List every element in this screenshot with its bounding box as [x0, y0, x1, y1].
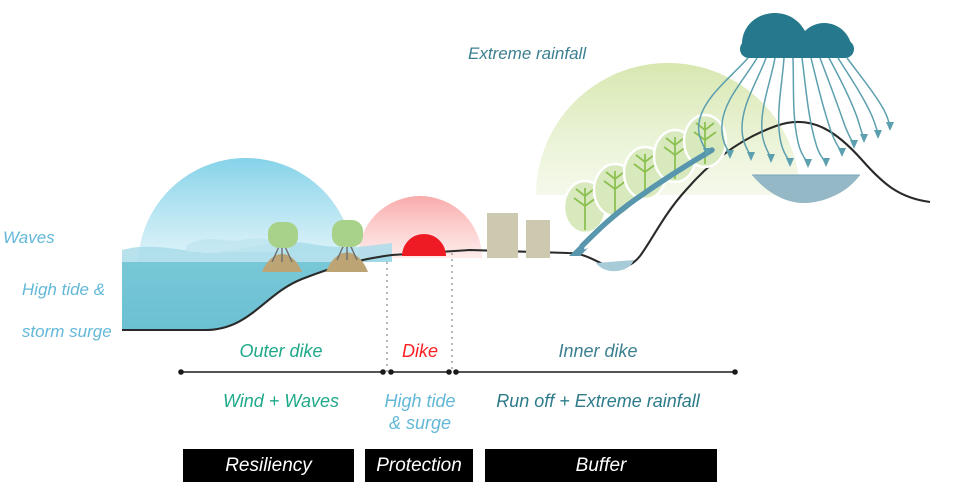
diagram-canvas: Waves High tide & storm surge Extreme ra… — [0, 0, 960, 489]
hazard-label-dike-line-2: & surge — [389, 413, 451, 433]
high-tide-line-2: storm surge — [22, 322, 112, 341]
strategy-bar-buffer-label: Buffer — [576, 455, 627, 477]
building-icon — [487, 213, 518, 258]
hazard-label-inner-dike: Run off + Extreme rainfall — [460, 390, 736, 412]
strategy-bar-resiliency-label: Resiliency — [225, 455, 312, 477]
hazard-label-dike-line-1: High tide — [384, 391, 455, 411]
hazard-label-outer-dike: Wind + Waves — [180, 390, 382, 412]
sea-water — [122, 238, 392, 330]
zone-label-outer-dike: Outer dike — [180, 341, 382, 362]
strategy-bar-resiliency: Resiliency — [183, 449, 354, 482]
valley-pond-water — [596, 260, 634, 271]
strategy-bar-protection-label: Protection — [376, 455, 462, 477]
scene-illustration — [0, 0, 960, 489]
strategy-bar-protection: Protection — [365, 449, 473, 482]
zone-label-inner-dike: Inner dike — [460, 341, 736, 362]
high-tide-storm-surge-label: High tide & storm surge — [3, 258, 112, 363]
waves-label: Waves — [3, 228, 55, 248]
retention-basin-water — [752, 175, 860, 203]
zone-label-dike: Dike — [388, 341, 452, 362]
extreme-rainfall-label: Extreme rainfall — [468, 44, 586, 64]
building-icon — [526, 220, 550, 258]
high-tide-line-1: High tide & — [22, 280, 105, 299]
hazard-label-dike: High tide & surge — [380, 390, 460, 434]
strategy-bar-buffer: Buffer — [485, 449, 717, 482]
cloud-icon — [740, 13, 854, 58]
tree-icon — [684, 115, 726, 167]
